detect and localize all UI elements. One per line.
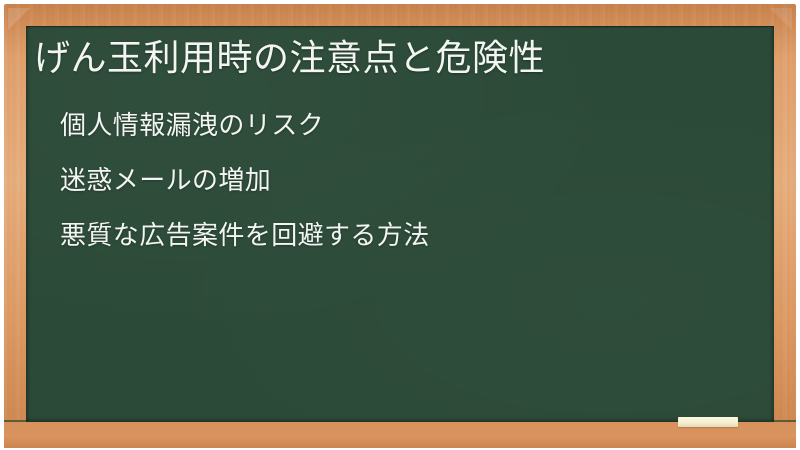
slide-canvas: げん玉利用時の注意点と危険性 個人情報漏洩のリスク 迷惑メールの増加 悪質な広告…: [0, 0, 800, 450]
list-item: 迷惑メールの増加: [60, 153, 764, 208]
chalk-stick-icon: [678, 417, 738, 427]
list-item: 個人情報漏洩のリスク: [60, 98, 764, 153]
topic-list: 個人情報漏洩のリスク 迷惑メールの増加 悪質な広告案件を回避する方法: [60, 98, 764, 263]
page-title: げん玉利用時の注意点と危険性: [34, 32, 766, 84]
blackboard-surface: げん玉利用時の注意点と危険性 個人情報漏洩のリスク 迷惑メールの増加 悪質な広告…: [26, 26, 774, 422]
list-item: 悪質な広告案件を回避する方法: [60, 208, 764, 263]
